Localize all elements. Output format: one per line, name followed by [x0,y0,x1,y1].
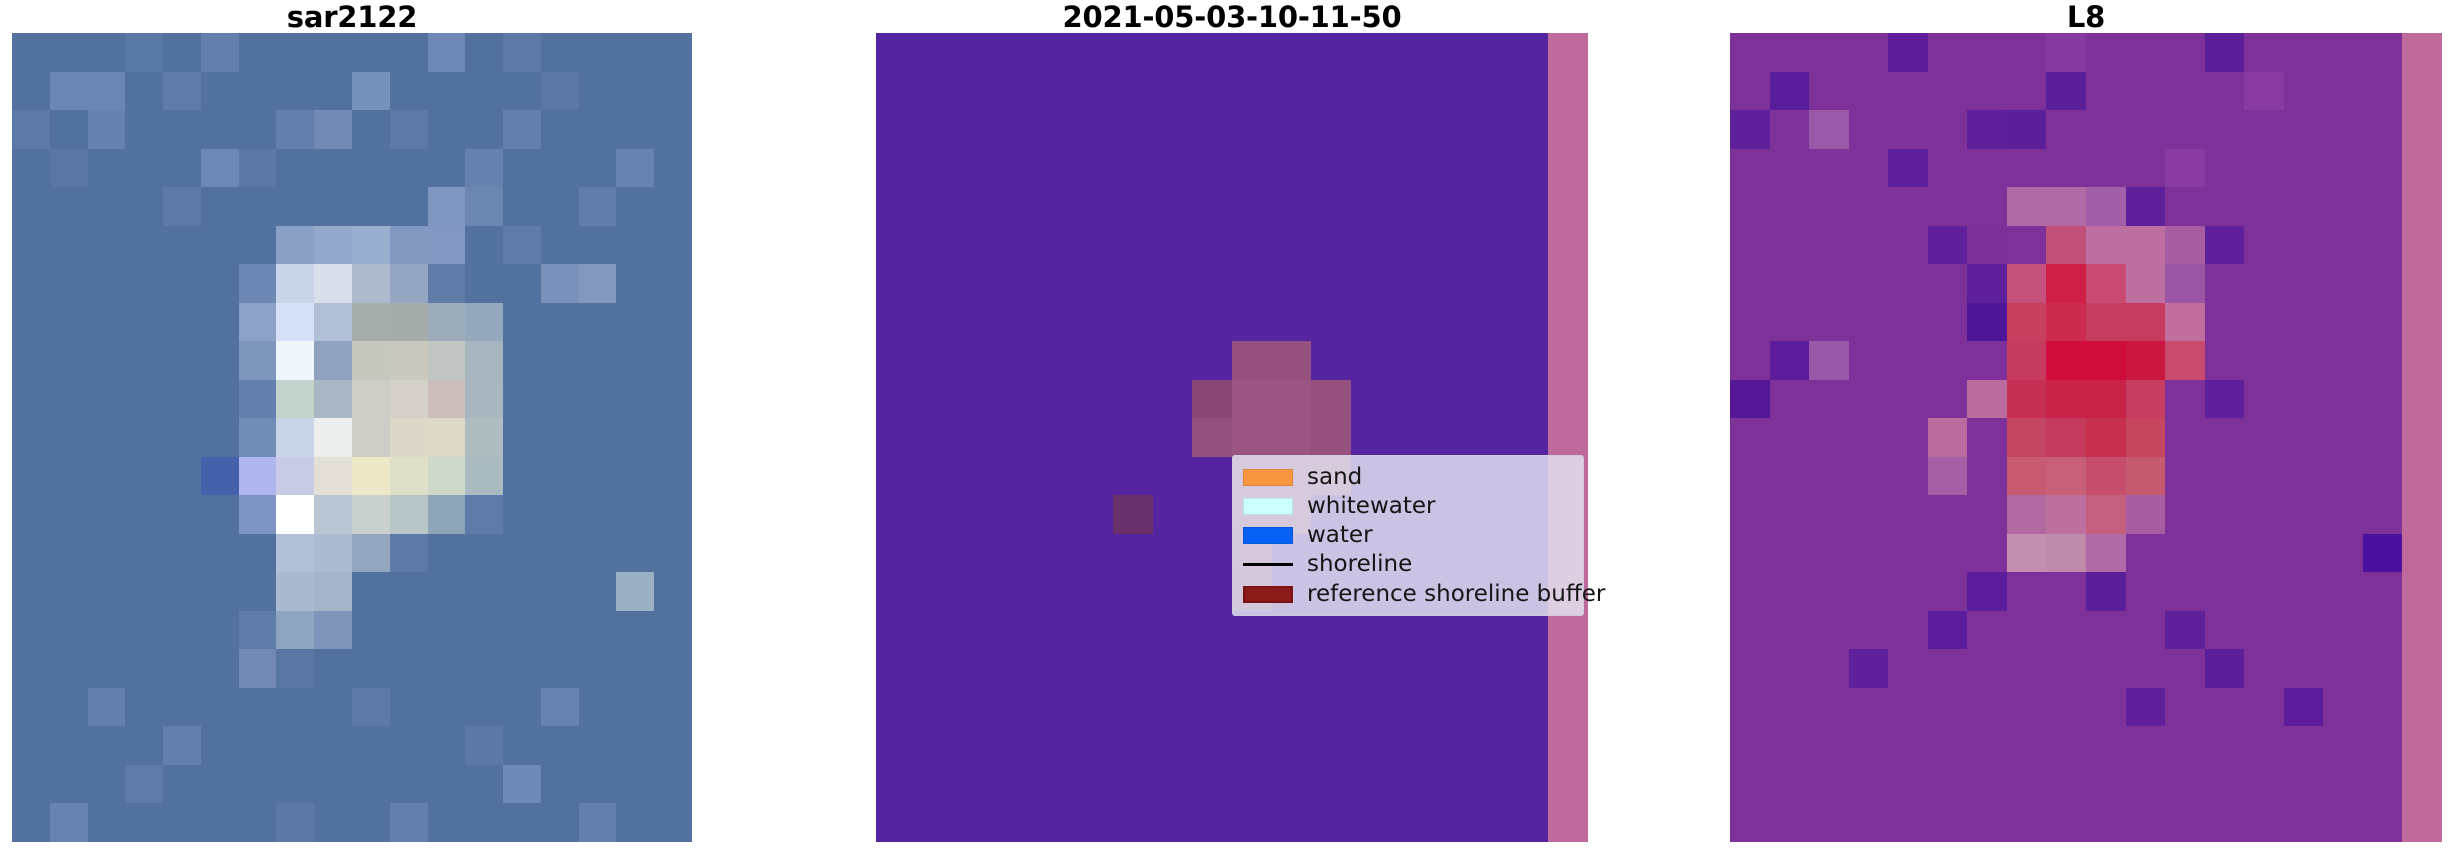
heatmap-cell [1888,688,1928,727]
heatmap-cell [1770,765,1810,804]
legend-item-whitewater[interactable]: whitewater [1243,492,1573,520]
heatmap-cell [1351,33,1391,72]
heatmap-cell [2086,534,2126,573]
heatmap-cell [2363,649,2403,688]
heatmap-cell [352,149,390,188]
heatmap-cell [314,534,352,573]
heatmap-cell [1730,303,1770,342]
heatmap-cell [579,149,617,188]
heatmap-cell [1311,380,1351,419]
heatmap-cell [541,457,579,496]
axes-classification[interactable] [876,33,1588,842]
heatmap-cell [352,688,390,727]
heatmap-cell [1034,611,1074,650]
heatmap-cell [1509,33,1549,72]
heatmap-cell [1888,110,1928,149]
heatmap-cell [390,457,428,496]
heatmap-cell [1272,649,1312,688]
heatmap-cell [2323,611,2363,650]
heatmap-cell [163,341,201,380]
heatmap-cell [654,110,692,149]
heatmap-cell [1113,72,1153,111]
heatmap-cell [995,803,1035,842]
heatmap-cell [1074,418,1114,457]
heatmap-cell [12,803,50,842]
heatmap-cell [1232,72,1272,111]
heatmap-cell [1928,803,1968,842]
heatmap-cell [390,149,428,188]
multi-panel-figure: sar2122 2021-05-03-10-11-50 L8 sandwhite… [0,0,2460,858]
heatmap-cell [1469,33,1509,72]
legend-item-shoreline[interactable]: shoreline [1243,551,1573,579]
heatmap-cell [352,380,390,419]
heatmap-cell [579,341,617,380]
legend-swatch-water-icon [1243,527,1293,544]
heatmap-cell [276,457,314,496]
heatmap-cell [1469,72,1509,111]
heatmap-cell [1509,226,1549,265]
heatmap-cell [2007,72,2047,111]
heatmap-cell [2086,72,2126,111]
heatmap-cell [2165,572,2205,611]
heatmap-cell [1272,418,1312,457]
heatmap-cell [541,264,579,303]
heatmap-cell [1113,110,1153,149]
heatmap-cell [125,264,163,303]
heatmap-cell [88,226,126,265]
heatmap-cell [1311,341,1351,380]
heatmap-cell [876,264,916,303]
heatmap-cell [88,380,126,419]
heatmap-cell [503,688,541,727]
heatmap-cell [1730,264,1770,303]
heatmap-cell [88,726,126,765]
heatmap-cell [1272,803,1312,842]
heatmap-cell [2244,149,2284,188]
heatmap-cell [276,649,314,688]
heatmap-cell [579,33,617,72]
heatmap-cell [1509,72,1549,111]
heatmap-cell [2046,611,2086,650]
heatmap-cell [1849,72,1889,111]
heatmap-cell [352,611,390,650]
heatmap-cell [390,495,428,534]
heatmap-cell [503,418,541,457]
heatmap-cell [1311,187,1351,226]
heatmap-cell [88,572,126,611]
axes-sar[interactable] [12,33,692,842]
heatmap-cell [1113,495,1153,534]
heatmap-cell [1153,534,1193,573]
heatmap-cell [1809,149,1849,188]
heatmap-cell [465,341,503,380]
heatmap-cell [541,611,579,650]
heatmap-cell [503,534,541,573]
heatmap-cell [1469,149,1509,188]
heatmap-cell [1272,726,1312,765]
heatmap-cell [1074,611,1114,650]
heatmap-cell [314,726,352,765]
heatmap-cell [876,418,916,457]
heatmap-cell [1232,688,1272,727]
heatmap-cell [2126,611,2166,650]
heatmap-cell [2086,649,2126,688]
heatmap-cell [2363,418,2403,457]
heatmap-cell [2205,72,2245,111]
heatmap-cell [541,149,579,188]
heatmap-cell [50,418,88,457]
heatmap-cell [1232,33,1272,72]
heatmap-cell [1430,341,1470,380]
heatmap-cell [955,457,995,496]
heatmap-cell [503,303,541,342]
heatmap-cell [1153,765,1193,804]
heatmap-cell [352,226,390,265]
heatmap-cell [1509,380,1549,419]
heatmap-cell [1548,226,1588,265]
heatmap-cell [654,495,692,534]
heatmap-cell [2046,72,2086,111]
heatmap-cell [1153,187,1193,226]
heatmap-cell [2244,572,2284,611]
heatmap-cell [1232,649,1272,688]
heatmap-cell [955,72,995,111]
heatmap-cell [1153,264,1193,303]
heatmap-cell [876,303,916,342]
heatmap-cell [1113,33,1153,72]
heatmap-cell [276,72,314,111]
heatmap-cell [1113,149,1153,188]
heatmap-cell [955,688,995,727]
heatmap-cell [2323,187,2363,226]
heatmap-cell [1509,303,1549,342]
heatmap-cell [579,611,617,650]
heatmap-cell [2244,33,2284,72]
heatmap-cell [955,803,995,842]
heatmap-cell [1548,341,1588,380]
heatmap-cell [390,803,428,842]
heatmap-cell [2402,649,2442,688]
heatmap-cell [201,688,239,727]
heatmap-cell [2165,303,2205,342]
heatmap-cell [1849,418,1889,457]
heatmap-cell [616,72,654,111]
heatmap-cell [1113,457,1153,496]
heatmap-cell [1430,264,1470,303]
heatmap-cell [2046,33,2086,72]
heatmap-cell [1928,457,1968,496]
heatmap-cell [2126,72,2166,111]
heatmap-cell [2046,726,2086,765]
heatmap-cell [2402,303,2442,342]
heatmap-cell [2284,341,2324,380]
heatmap-cell [428,572,466,611]
heatmap-cell [12,495,50,534]
heatmap-cell [1888,341,1928,380]
heatmap-cell [163,110,201,149]
heatmap-cell [1034,572,1074,611]
heatmap-cell [2007,226,2047,265]
heatmap-cell [1809,303,1849,342]
heatmap-cell [88,803,126,842]
heatmap-cell [955,572,995,611]
heatmap-cell [125,303,163,342]
heatmap-cell [2284,457,2324,496]
heatmap-grid-classification [876,33,1588,842]
heatmap-cell [125,534,163,573]
heatmap-cell [1390,649,1430,688]
heatmap-cell [1272,688,1312,727]
heatmap-cell [314,649,352,688]
heatmap-cell [1888,572,1928,611]
heatmap-cell [201,765,239,804]
heatmap-cell [314,187,352,226]
heatmap-cell [1730,649,1770,688]
heatmap-cell [12,572,50,611]
heatmap-cell [1351,264,1391,303]
heatmap-cell [1113,341,1153,380]
heatmap-cell [12,380,50,419]
heatmap-cell [1469,187,1509,226]
heatmap-cell [1232,418,1272,457]
heatmap-cell [2126,765,2166,804]
heatmap-cell [1430,187,1470,226]
heatmap-cell [1548,380,1588,419]
heatmap-cell [2046,380,2086,419]
heatmap-cell [1967,187,2007,226]
heatmap-cell [955,226,995,265]
heatmap-cell [1730,226,1770,265]
heatmap-cell [2323,264,2363,303]
heatmap-cell [12,418,50,457]
heatmap-cell [50,303,88,342]
heatmap-cell [2244,110,2284,149]
heatmap-cell [276,380,314,419]
heatmap-cell [2244,649,2284,688]
heatmap-cell [125,803,163,842]
heatmap-cell [1430,726,1470,765]
legend-label: reference shoreline buffer [1307,583,1605,606]
heatmap-cell [50,226,88,265]
panel-classification: 2021-05-03-10-11-50 [876,33,1588,842]
heatmap-cell [2205,688,2245,727]
legend-item-water[interactable]: water [1243,522,1573,550]
heatmap-cell [1888,33,1928,72]
heatmap-cell [2244,457,2284,496]
heatmap-cell [2323,418,2363,457]
heatmap-cell [2363,572,2403,611]
heatmap-cell [541,765,579,804]
heatmap-cell [1770,187,1810,226]
heatmap-cell [125,418,163,457]
heatmap-cell [1153,726,1193,765]
heatmap-cell [465,33,503,72]
heatmap-cell [428,418,466,457]
heatmap-cell [125,495,163,534]
heatmap-cell [541,726,579,765]
heatmap-cell [276,187,314,226]
heatmap-cell [1430,611,1470,650]
heatmap-cell [50,765,88,804]
heatmap-cell [2402,149,2442,188]
heatmap-cell [955,534,995,573]
heatmap-cell [1272,264,1312,303]
heatmap-cell [1809,457,1849,496]
heatmap-cell [1888,765,1928,804]
heatmap-cell [1113,572,1153,611]
heatmap-cell [352,726,390,765]
heatmap-cell [276,149,314,188]
heatmap-cell [1809,803,1849,842]
heatmap-cell [2165,688,2205,727]
heatmap-cell [1074,803,1114,842]
heatmap-cell [1967,726,2007,765]
panel-title-classification: 2021-05-03-10-11-50 [876,2,1588,33]
heatmap-cell [239,803,277,842]
heatmap-cell [2007,149,2047,188]
heatmap-cell [163,688,201,727]
heatmap-cell [428,264,466,303]
heatmap-cell [50,341,88,380]
heatmap-cell [88,72,126,111]
heatmap-cell [1192,226,1232,265]
heatmap-cell [1390,765,1430,804]
heatmap-cell [125,33,163,72]
heatmap-cell [201,457,239,496]
heatmap-cell [352,495,390,534]
heatmap-cell [2323,572,2363,611]
heatmap-cell [2244,264,2284,303]
heatmap-cell [876,688,916,727]
heatmap-cell [1809,341,1849,380]
heatmap-cell [1113,303,1153,342]
heatmap-cell [2323,534,2363,573]
heatmap-cell [1153,72,1193,111]
heatmap-cell [276,688,314,727]
heatmap-cell [352,264,390,303]
heatmap-cell [1509,765,1549,804]
heatmap-cell [1967,457,2007,496]
heatmap-cell [2402,187,2442,226]
heatmap-cell [2046,572,2086,611]
heatmap-cell [1074,33,1114,72]
heatmap-cell [654,187,692,226]
heatmap-cell [352,534,390,573]
heatmap-cell [1509,110,1549,149]
heatmap-cell [2126,187,2166,226]
heatmap-cell [1967,765,2007,804]
heatmap-cell [916,611,956,650]
heatmap-cell [314,149,352,188]
heatmap-cell [163,226,201,265]
heatmap-cell [163,534,201,573]
heatmap-cell [125,457,163,496]
heatmap-cell [1849,341,1889,380]
heatmap-cell [12,341,50,380]
heatmap-cell [1849,380,1889,419]
heatmap-cell [428,33,466,72]
heatmap-cell [995,726,1035,765]
heatmap-cell [239,110,277,149]
heatmap-cell [2126,264,2166,303]
heatmap-cell [201,380,239,419]
heatmap-cell [1809,649,1849,688]
heatmap-cell [1311,72,1351,111]
heatmap-cell [1074,688,1114,727]
heatmap-cell [916,33,956,72]
heatmap-cell [50,149,88,188]
heatmap-cell [2086,226,2126,265]
heatmap-cell [1888,534,1928,573]
heatmap-cell [2363,611,2403,650]
heatmap-cell [1390,380,1430,419]
legend-label: sand [1307,466,1362,489]
heatmap-cell [88,611,126,650]
axes-l8[interactable] [1730,33,2442,842]
heatmap-cell [1232,264,1272,303]
heatmap-cell [1074,110,1114,149]
heatmap-cell [916,341,956,380]
heatmap-cell [239,33,277,72]
heatmap-cell [2205,457,2245,496]
heatmap-cell [2126,572,2166,611]
heatmap-cell [465,803,503,842]
heatmap-cell [1888,726,1928,765]
heatmap-cell [2363,495,2403,534]
heatmap-cell [1928,380,1968,419]
heatmap-cell [2007,380,2047,419]
heatmap-cell [163,303,201,342]
heatmap-cell [314,611,352,650]
heatmap-cell [2323,341,2363,380]
heatmap-cell [503,264,541,303]
heatmap-cell [1311,688,1351,727]
heatmap-cell [1390,341,1430,380]
heatmap-cell [50,726,88,765]
heatmap-cell [390,688,428,727]
heatmap-cell [88,33,126,72]
heatmap-cell [876,187,916,226]
heatmap-cell [541,495,579,534]
heatmap-cell [2205,572,2245,611]
heatmap-cell [1153,457,1193,496]
heatmap-cell [654,457,692,496]
heatmap-cell [616,457,654,496]
heatmap-cell [1548,33,1588,72]
heatmap-cell [2165,495,2205,534]
heatmap-cell [1232,341,1272,380]
heatmap-cell [541,226,579,265]
heatmap-cell [1430,380,1470,419]
heatmap-cell [201,418,239,457]
heatmap-cell [2402,611,2442,650]
heatmap-cell [1770,457,1810,496]
heatmap-cell [1928,149,1968,188]
legend-item-sand[interactable]: sand [1243,463,1573,491]
legend-item-reference-shoreline-buffer[interactable]: reference shoreline buffer [1243,580,1573,608]
heatmap-cell [2165,649,2205,688]
heatmap-cell [88,110,126,149]
heatmap-cell [88,495,126,534]
heatmap-cell [201,226,239,265]
heatmap-cell [1192,611,1232,650]
heatmap-cell [1311,649,1351,688]
heatmap-cell [2402,688,2442,727]
heatmap-cell [352,649,390,688]
heatmap-cell [1192,688,1232,727]
heatmap-cell [1849,149,1889,188]
heatmap-cell [541,72,579,111]
